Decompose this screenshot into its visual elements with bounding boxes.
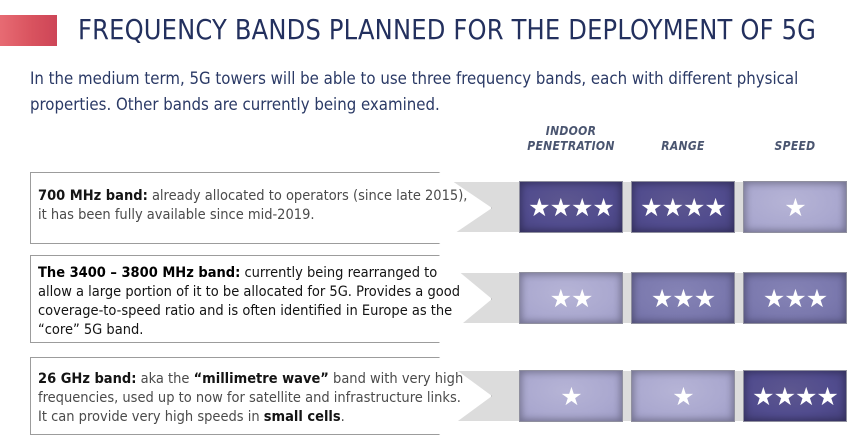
band-title: 26 GHz band: xyxy=(38,371,136,387)
rating-range: ★★★ xyxy=(631,272,735,324)
rating-indoor-penetration: ★ xyxy=(519,370,623,422)
band-description: 700 MHz band: already allocated to opera… xyxy=(38,187,468,225)
star-glyphs: ★★★ xyxy=(763,286,827,311)
rating-speed: ★★★★ xyxy=(743,370,847,422)
star-glyphs: ★★★ xyxy=(651,286,715,311)
column-header-indoor-penetration: INDOOR PENETRATION xyxy=(519,124,623,160)
star-glyphs: ★★★★ xyxy=(528,195,614,220)
band-description: 26 GHz band: aka the “millimetre wave” b… xyxy=(38,370,468,427)
column-header-speed: SPEED xyxy=(743,124,847,160)
rating-range: ★★★★ xyxy=(631,181,735,233)
column-headers: INDOOR PENETRATION RANGE SPEED xyxy=(519,124,847,160)
star-glyphs: ★ xyxy=(784,195,805,220)
page-title: FREQUENCY BANDS PLANNED FOR THE DEPLOYME… xyxy=(78,12,811,48)
rating-group: ★★ ★★★ ★★★ xyxy=(519,272,847,324)
column-header-line-2: PENETRATION xyxy=(519,139,623,154)
rating-range: ★ xyxy=(631,370,735,422)
intro-paragraph: In the medium term, 5G towers will be ab… xyxy=(30,66,841,118)
rating-speed: ★★★ xyxy=(743,272,847,324)
rating-group: ★★★★ ★★★★ ★ xyxy=(519,181,847,233)
band-row-26ghz: 26 GHz band: aka the “millimetre wave” b… xyxy=(0,357,852,435)
star-glyphs: ★★★★ xyxy=(752,384,838,409)
star-glyphs: ★ xyxy=(560,384,581,409)
rating-indoor-penetration: ★★★★ xyxy=(519,181,623,233)
band-row-3400-3800mhz: The 3400 – 3800 MHz band: currently bein… xyxy=(0,255,852,343)
star-glyphs: ★ xyxy=(672,384,693,409)
rating-speed: ★ xyxy=(743,181,847,233)
accent-block xyxy=(0,15,57,46)
band-title: 700 MHz band: xyxy=(38,188,148,204)
rating-indoor-penetration: ★★ xyxy=(519,272,623,324)
star-glyphs: ★★ xyxy=(550,286,593,311)
rating-group: ★ ★ ★★★★ xyxy=(519,370,847,422)
infographic-page: FREQUENCY BANDS PLANNED FOR THE DEPLOYME… xyxy=(0,0,852,448)
column-header-line-1: INDOOR xyxy=(519,124,623,139)
band-description: The 3400 – 3800 MHz band: currently bein… xyxy=(38,264,468,340)
star-glyphs: ★★★★ xyxy=(640,195,726,220)
band-title: The 3400 – 3800 MHz band: xyxy=(38,265,240,281)
column-header-range: RANGE xyxy=(631,124,735,160)
band-row-700mhz: 700 MHz band: already allocated to opera… xyxy=(0,172,852,244)
